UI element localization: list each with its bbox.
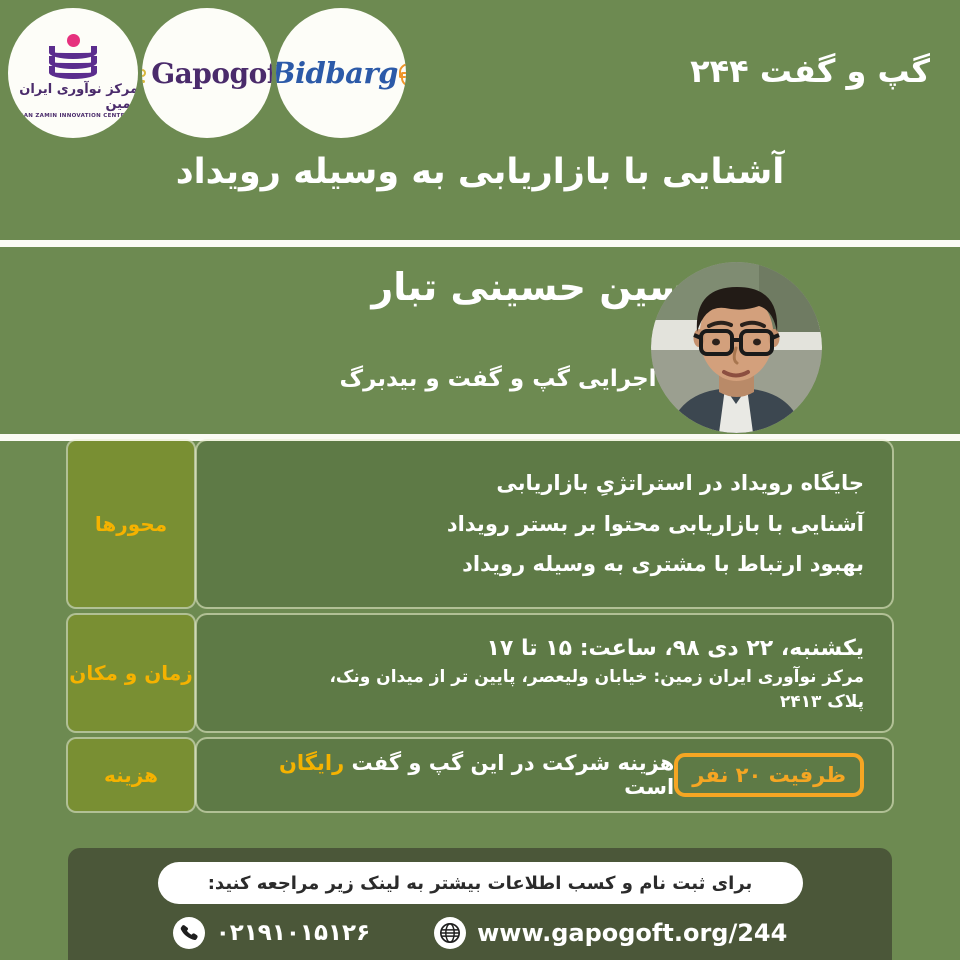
- registration-cta[interactable]: برای ثبت نام و کسب اطلاعات بیشتر به لینک…: [158, 862, 803, 904]
- speaker-avatar: [651, 262, 822, 433]
- iran-zamin-name-fa: مرکز نوآوری ایران زمین: [8, 82, 138, 112]
- iran-zamin-name-en: IRAN ZAMIN INNOVATION CENTER: [17, 113, 129, 119]
- row-label-when-where: زمان و مکان: [68, 615, 194, 731]
- logo-row: Bidbarg Gapogoft: [8, 8, 406, 138]
- divider-top: [0, 240, 960, 247]
- issue-number: گپ و گفت ۲۴۴: [690, 52, 930, 90]
- coffee-cup-icon: [142, 58, 149, 88]
- row-label-cost: هزینه: [68, 739, 194, 811]
- bidbarg-leaf-icon: [399, 61, 406, 85]
- details-table: محورها جایگاه رویداد در استراتژیِ بازاری…: [0, 441, 960, 819]
- gapogoft-wordmark: Gapogoft: [151, 57, 272, 90]
- bidbarg-wordmark: Bidbarg: [276, 56, 398, 90]
- iran-zamin-emblem-icon: [43, 34, 103, 80]
- row-body-topics: جایگاه رویداد در استراتژیِ بازاریابی آشن…: [197, 441, 892, 607]
- phone-icon: [173, 917, 205, 949]
- cost-text-before: هزینه شرکت در این گپ و گفت: [344, 751, 674, 775]
- contact-website[interactable]: www.gapogoft.org/244: [434, 917, 787, 949]
- cost-text: هزینه شرکت در این گپ و گفت رایگان است: [225, 751, 674, 799]
- cost-free-word: رایگان: [279, 751, 344, 775]
- list-item: جایگاه رویداد در استراتژیِ بازاریابی: [225, 463, 864, 504]
- row-body-when-where: یکشنبه، ۲۲ دی ۹۸، ساعت: ۱۵ تا ۱۷ مرکز نو…: [197, 615, 892, 731]
- logo-gapogoft: Gapogoft: [142, 8, 272, 138]
- table-row-when-where: زمان و مکان یکشنبه، ۲۲ دی ۹۸، ساعت: ۱۵ ت…: [0, 615, 960, 731]
- divider-speaker: [0, 434, 960, 441]
- cost-text-after: است: [624, 775, 674, 799]
- capacity-badge: ظرفیت ۲۰ نفر: [674, 753, 864, 797]
- table-row-cost: هزینه هزینه شرکت در این گپ و گفت رایگان …: [0, 739, 960, 811]
- footer-panel: برای ثبت نام و کسب اطلاعات بیشتر به لینک…: [68, 848, 892, 960]
- row-body-cost: هزینه شرکت در این گپ و گفت رایگان است ظر…: [197, 739, 892, 811]
- event-datetime: یکشنبه، ۲۲ دی ۹۸، ساعت: ۱۵ تا ۱۷: [225, 632, 864, 665]
- logo-iran-zamin: مرکز نوآوری ایران زمین IRAN ZAMIN INNOVA…: [8, 8, 138, 138]
- list-item: آشنایی با بازاریابی محتوا بر بستر رویداد: [225, 504, 864, 545]
- phone-number: ۰۲۱۹۱۰۱۵۱۲۶: [216, 920, 370, 946]
- contact-phone[interactable]: ۰۲۱۹۱۰۱۵۱۲۶: [173, 917, 370, 949]
- row-label-topics: محورها: [68, 441, 194, 607]
- header-band: Bidbarg Gapogoft: [0, 0, 960, 243]
- page-title: آشنایی با بازاریابی به وسیله رویداد: [0, 152, 960, 192]
- event-address-line-2: پلاک ۲۴۱۳: [225, 690, 864, 715]
- list-item: بهبود ارتباط با مشتری به وسیله رویداد: [225, 544, 864, 585]
- contact-row: ۰۲۱۹۱۰۱۵۱۲۶ www.gapogoft.org/244: [173, 917, 788, 949]
- table-row-topics: محورها جایگاه رویداد در استراتژیِ بازاری…: [0, 441, 960, 607]
- event-address-line-1: مرکز نوآوری ایران زمین: خیابان ولیعصر، پ…: [225, 665, 864, 690]
- logo-bidbarg: Bidbarg: [276, 8, 406, 138]
- event-poster: Bidbarg Gapogoft: [0, 0, 960, 960]
- globe-icon: [434, 917, 466, 949]
- website-url: www.gapogoft.org/244: [477, 919, 787, 947]
